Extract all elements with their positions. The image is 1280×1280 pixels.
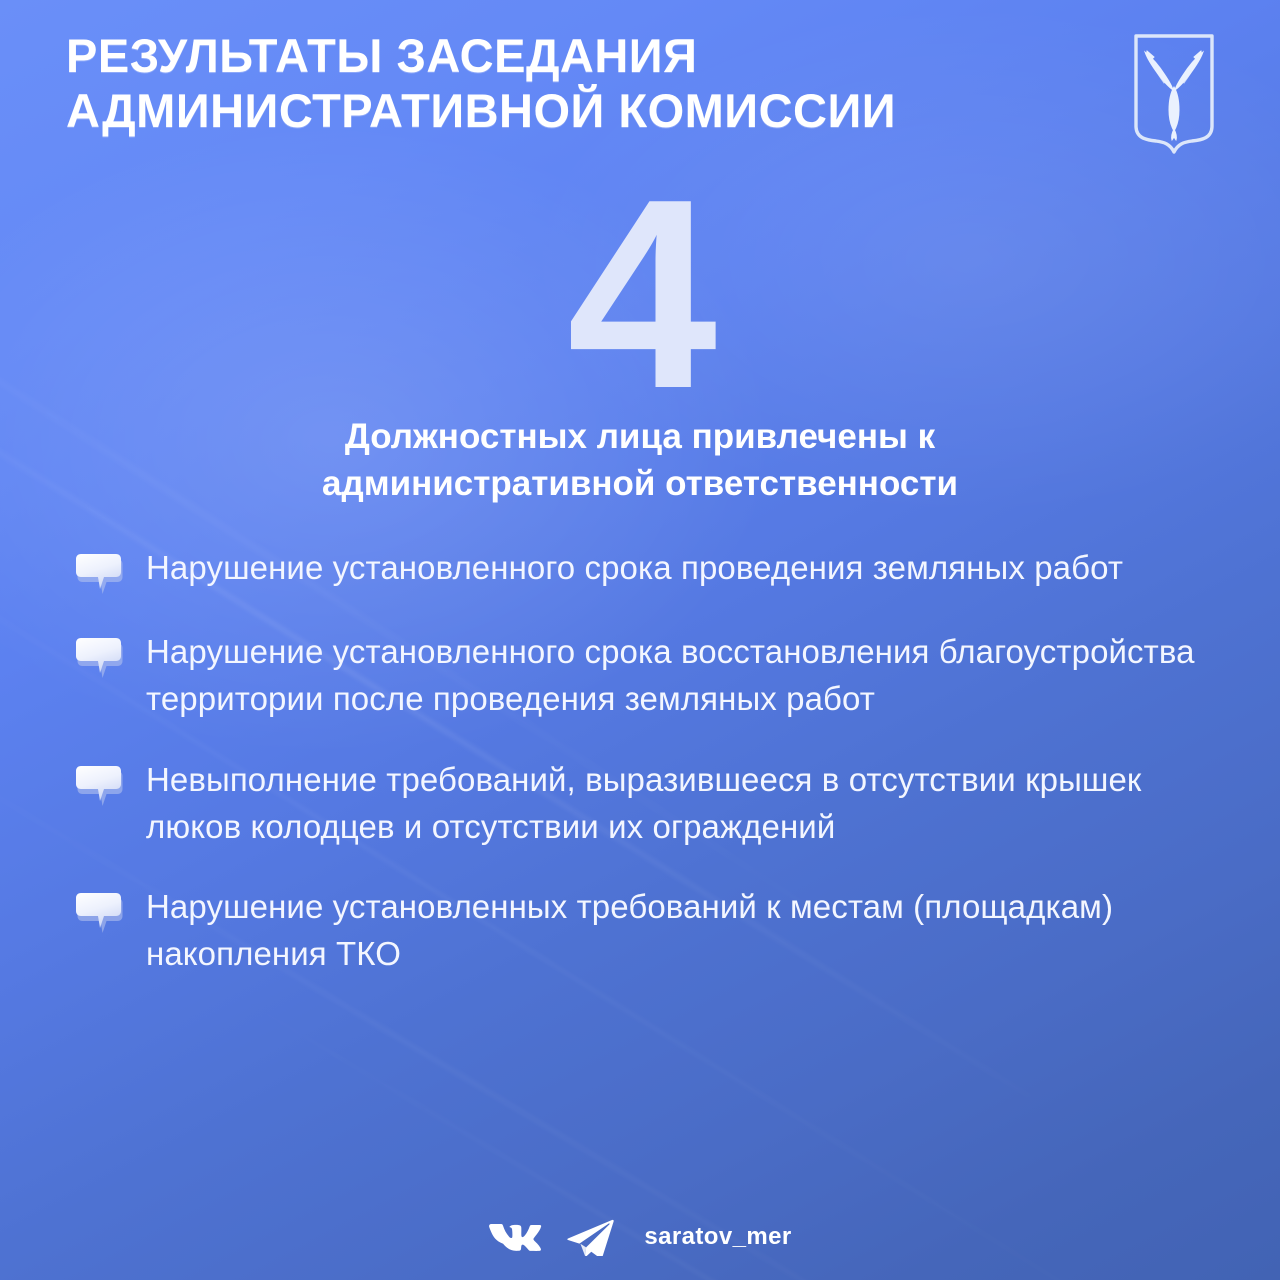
list-item-label: Нарушение установленного срока восстанов… [146,629,1240,723]
list-item-label: Невыполнение требований, выразившееся в … [146,757,1240,851]
poster-canvas: РЕЗУЛЬТАТЫ ЗАСЕДАНИЯ АДМИНИСТРАТИВНОЙ КО… [0,0,1280,1280]
speech-bubble-bullet-icon [72,763,124,807]
speech-bubble-bullet-icon [72,551,124,595]
page-title: РЕЗУЛЬТАТЫ ЗАСЕДАНИЯ АДМИНИСТРАТИВНОЙ КО… [66,28,896,139]
saratov-coat-of-arms-icon [1130,30,1218,167]
list-item-label: Нарушение установленного срока проведени… [146,545,1123,592]
page-title-line-2: АДМИНИСТРАТИВНОЙ КОМИССИИ [66,83,896,138]
social-handle[interactable]: saratov_mer [644,1223,791,1251]
violations-list: Нарушение установленного срока проведени… [72,545,1240,1012]
speech-bubble-bullet-icon [72,890,124,934]
list-item: Нарушение установленных требований к мес… [72,884,1240,978]
list-item-label: Нарушение установленных требований к мес… [146,884,1240,978]
subtitle-line-2: административной ответственности [322,464,958,503]
page-title-line-1: РЕЗУЛЬТАТЫ ЗАСЕДАНИЯ [66,28,896,83]
subtitle: Должностных лица привлечены к администра… [150,414,1130,507]
speech-bubble-bullet-icon [72,635,124,679]
list-item: Нарушение установленного срока восстанов… [72,629,1240,723]
list-item: Нарушение установленного срока проведени… [72,545,1240,595]
social-footer: saratov_mer [0,1218,1280,1256]
list-item: Невыполнение требований, выразившееся в … [72,757,1240,851]
subtitle-line-1: Должностных лица привлечены к [345,417,935,456]
count-number: 4 [0,160,1280,430]
vk-icon[interactable] [488,1220,544,1254]
telegram-icon[interactable] [566,1218,614,1256]
